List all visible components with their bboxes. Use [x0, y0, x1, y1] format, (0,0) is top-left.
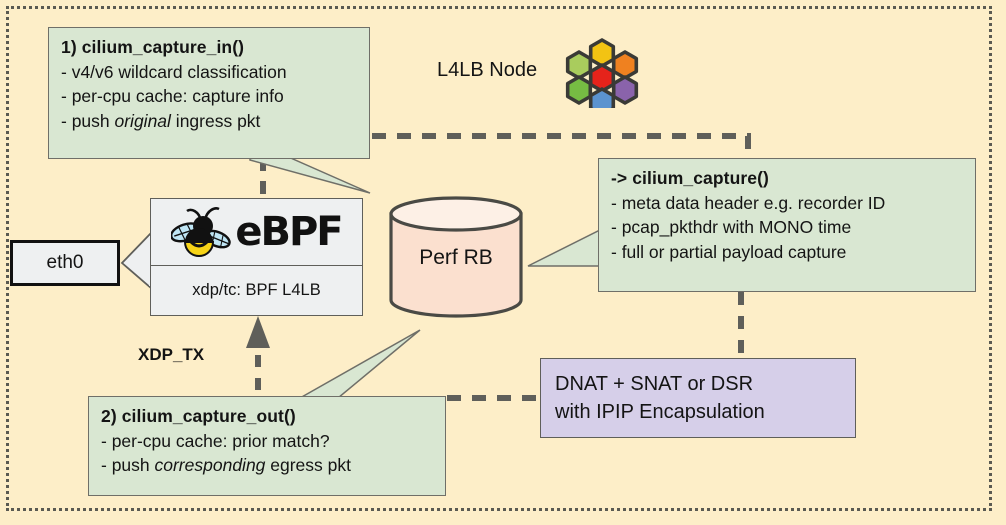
xdp-tx-label: XDP_TX	[138, 345, 204, 365]
eth0-box: eth0	[10, 240, 120, 286]
perf-ring-buffer-cylinder: Perf RB	[388, 196, 524, 318]
callout-capture-line-3: - full or partial payload capture	[611, 240, 965, 265]
line2-italic: corresponding	[155, 455, 266, 475]
purple-box-line-2: with IPIP Encapsulation	[555, 398, 855, 426]
line3-pre: - push	[61, 111, 115, 131]
line3-post: ingress pkt	[171, 111, 260, 131]
ebpf-subtitle-box: xdp/tc: BPF L4LB	[150, 266, 363, 316]
hex-top	[591, 40, 614, 66]
perf-rb-label: Perf RB	[388, 246, 524, 270]
callout-capture-in-line-3: - push original ingress pkt	[61, 109, 359, 134]
diagram-canvas: 1) cilium_capture_in() - v4/v6 wildcard …	[0, 0, 1006, 525]
cilium-logo-svg	[556, 38, 648, 108]
callout-capture-out-header: 2) cilium_capture_out()	[101, 404, 435, 429]
callout-capture-line-1: - meta data header e.g. recorder ID	[611, 191, 965, 216]
hex-top-right	[614, 52, 637, 78]
hex-bottom-right	[614, 77, 637, 103]
dnat-snat-dsr-box: DNAT + SNAT or DSR with IPIP Encapsulati…	[540, 358, 856, 438]
callout-capture: -> cilium_capture() - meta data header e…	[598, 158, 976, 292]
ebpf-logo-box: eBPF	[150, 198, 363, 266]
callout-capture-header: -> cilium_capture()	[611, 166, 965, 191]
line2-pre: - push	[101, 455, 155, 475]
ebpf-wordmark: eBPF	[235, 212, 341, 252]
callout-capture-out-line-2: - push corresponding egress pkt	[101, 453, 435, 478]
ebpf-subtitle-label: xdp/tc: BPF L4LB	[192, 281, 320, 300]
l4lb-node-label: L4LB Node	[437, 59, 537, 82]
callout-capture-in-header: 1) cilium_capture_in()	[61, 35, 359, 60]
line3-italic: original	[115, 111, 171, 131]
xdp-tx-arrowhead-icon	[246, 316, 270, 348]
callout-capture-line-2: - pcap_pkthdr with MONO time	[611, 215, 965, 240]
cilium-hexagon-logo	[556, 38, 648, 108]
callout-capture-out: 2) cilium_capture_out() - per-cpu cache:…	[88, 396, 446, 496]
purple-box-line-1: DNAT + SNAT or DSR	[555, 370, 855, 398]
callout-capture-in-line-1: - v4/v6 wildcard classification	[61, 60, 359, 85]
ebpf-program-stack: eBPF xdp/tc: BPF L4LB	[150, 198, 363, 316]
line2-post: egress pkt	[265, 455, 351, 475]
bee-icon	[171, 204, 233, 260]
hex-bottom	[591, 89, 614, 108]
hex-bottom-left	[568, 77, 591, 103]
eth0-label: eth0	[47, 252, 84, 274]
callout-capture-out-line-1: - per-cpu cache: prior match?	[101, 429, 435, 454]
callout-capture-in-line-2: - per-cpu cache: capture info	[61, 84, 359, 109]
hex-center	[591, 65, 614, 91]
hex-top-left	[568, 52, 591, 78]
callout-capture-in: 1) cilium_capture_in() - v4/v6 wildcard …	[48, 27, 370, 159]
